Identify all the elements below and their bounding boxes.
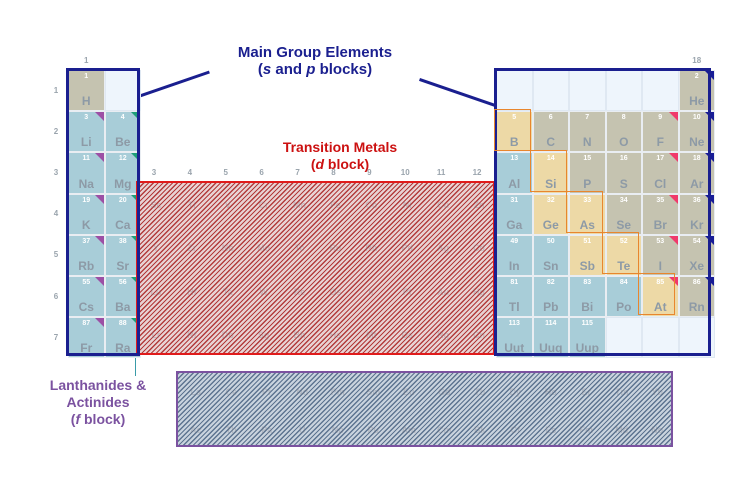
f-block-ghost-th: Th <box>214 425 250 435</box>
title-f-line1: Lanthanides & <box>22 377 174 394</box>
d-block-ghost-rg: Rg <box>425 330 461 340</box>
d-block-ghost-zr: Zr <box>174 243 210 253</box>
period-label-2: 2 <box>50 127 62 137</box>
d-block-ghost-pt: Pt <box>389 287 425 297</box>
period-label-5: 5 <box>50 250 62 260</box>
d-block-ghost-cn: Cn <box>461 330 497 340</box>
group-label-7: 7 <box>289 168 307 178</box>
title-f-line2: Actinides <box>22 394 174 411</box>
f-block-ghost-la: La <box>178 387 214 397</box>
period-label-6: 6 <box>50 292 62 302</box>
group-label-10: 10 <box>396 168 414 178</box>
group-label-9: 9 <box>360 168 378 178</box>
d-block-ghost-cu: Cu <box>425 200 461 210</box>
title-transition-line1: Transition Metals <box>230 139 450 156</box>
f-block-ghost-bk: Bk <box>462 425 498 435</box>
group-label-8: 8 <box>324 168 342 178</box>
d-block-ghost-mt: Mt <box>353 330 389 340</box>
f-block-ghost-no: No <box>640 425 676 435</box>
title-f-block: Lanthanides & Actinides (f block) <box>22 377 174 428</box>
group-label-12: 12 <box>468 168 486 178</box>
f-block-ghost-u: U <box>285 425 321 435</box>
d-block-ghost-lr: Lr <box>138 330 174 340</box>
d-block-ghost-ir: Ir <box>353 287 389 297</box>
f-block-ghost-pr: Pr <box>249 387 285 397</box>
f-block-ghost-ac: Ac <box>178 425 214 435</box>
title-main-group-line2: (s and p blocks) <box>190 61 440 78</box>
d-block-ghost-cd: Cd <box>461 243 497 253</box>
group-label-5: 5 <box>217 168 235 178</box>
italic-d: d <box>315 156 324 172</box>
d-block-ghost-pd: Pd <box>389 243 425 253</box>
period-label-1: 1 <box>50 86 62 96</box>
f-block-ghost-es: Es <box>533 425 569 435</box>
f-block-ghost-cm: Cm <box>427 425 463 435</box>
title-main-group: Main Group Elements (s and p blocks) <box>190 44 440 78</box>
group-label-3: 3 <box>145 168 163 178</box>
title-main-group-line1: Main Group Elements <box>190 44 440 61</box>
f-block-ghost-sm: Sm <box>356 387 392 397</box>
s-block-outline[interactable] <box>66 68 140 356</box>
d-block-ghost-y: Y <box>138 243 174 253</box>
d-block-ghost-ni: Ni <box>389 200 425 210</box>
d-block-ghost-ti: Ti <box>174 200 210 210</box>
d-block-ghost-zn: Zn <box>461 200 497 210</box>
p-block-outline[interactable] <box>494 68 711 356</box>
d-block-ghost-hg: Hg <box>461 287 497 297</box>
f-block-ghost-eu: Eu <box>391 387 427 397</box>
group-label-11: 11 <box>432 168 450 178</box>
d-block-ghost-rh: Rh <box>353 243 389 253</box>
d-block-ghost-w: W <box>246 287 282 297</box>
f-block-ghost-yb: Yb <box>640 387 676 397</box>
f-block-ghost-am: Am <box>391 425 427 435</box>
f-block-ghost-tm: Tm <box>604 387 640 397</box>
d-block-ghost-mn: Mn <box>282 200 318 210</box>
leader-line-right <box>419 78 503 109</box>
d-block-ghost-au: Au <box>425 287 461 297</box>
f-block-region[interactable]: LaCePrNdPmSmEuGdTbDyHoErTmYbAcThPaUNpPuA… <box>176 371 673 447</box>
f-block-ghost-dy: Dy <box>498 387 534 397</box>
group-label-6: 6 <box>253 168 271 178</box>
f-block-ghost-gd: Gd <box>427 387 463 397</box>
d-block-ghost-co: Co <box>353 200 389 210</box>
f-block-ghost-ho: Ho <box>533 387 569 397</box>
f-block-ghost-tb: Tb <box>462 387 498 397</box>
f-block-ghost-cf: Cf <box>498 425 534 435</box>
f-block-ghost-pa: Pa <box>249 425 285 435</box>
f-block-ghost-np: Np <box>320 425 356 435</box>
d-block-ghost-ag: Ag <box>425 243 461 253</box>
d-block-ghost-re: Re <box>282 287 318 297</box>
d-block-ghost-db: Db <box>210 330 246 340</box>
d-block-ghost-sc: Sc <box>138 200 174 210</box>
italic-s: s <box>263 61 271 78</box>
d-block-region[interactable]: ScTiVCrMnFeCoNiCuZnYZrNbMoTcRuRhPdAgCdLu… <box>136 181 495 355</box>
f-block-ghost-nd: Nd <box>285 387 321 397</box>
f-block-ghost-fm: Fm <box>569 425 605 435</box>
f-block-connector <box>135 356 136 376</box>
f-block-ghost-er: Er <box>569 387 605 397</box>
group-label-1: 1 <box>77 56 95 66</box>
d-block-ghost-lu: Lu <box>138 287 174 297</box>
d-block-ghost-cr: Cr <box>246 200 282 210</box>
d-block-ghost-sg: Sg <box>246 330 282 340</box>
period-label-7: 7 <box>50 333 62 343</box>
periodic-table-diagram: Main Group Elements (s and p blocks) Tra… <box>0 0 750 500</box>
d-block-ghost-hf: Hf <box>174 287 210 297</box>
d-block-ghost-fe: Fe <box>318 200 354 210</box>
d-block-ghost-nb: Nb <box>210 243 246 253</box>
d-block-ghost-rf: Rf <box>174 330 210 340</box>
d-block-ghost-tc: Tc <box>282 243 318 253</box>
group-label-18: 18 <box>688 56 706 66</box>
title-f-line3: (f block) <box>22 411 174 428</box>
period-label-4: 4 <box>50 209 62 219</box>
d-block-ghost-bh: Bh <box>282 330 318 340</box>
d-block-ghost-ds: Ds <box>389 330 425 340</box>
d-block-ghost-ru: Ru <box>318 243 354 253</box>
group-label-4: 4 <box>181 168 199 178</box>
period-label-3: 3 <box>50 168 62 178</box>
d-block-ghost-ta: Ta <box>210 287 246 297</box>
d-block-ghost-mo: Mo <box>246 243 282 253</box>
d-block-ghost-hs: Hs <box>318 330 354 340</box>
f-block-ghost-pu: Pu <box>356 425 392 435</box>
f-block-ghost-md: Md <box>604 425 640 435</box>
d-block-ghost-v: V <box>210 200 246 210</box>
f-block-ghost-pm: Pm <box>320 387 356 397</box>
leader-line-left <box>138 71 210 98</box>
d-block-ghost-os: Os <box>318 287 354 297</box>
f-block-ghost-ce: Ce <box>214 387 250 397</box>
